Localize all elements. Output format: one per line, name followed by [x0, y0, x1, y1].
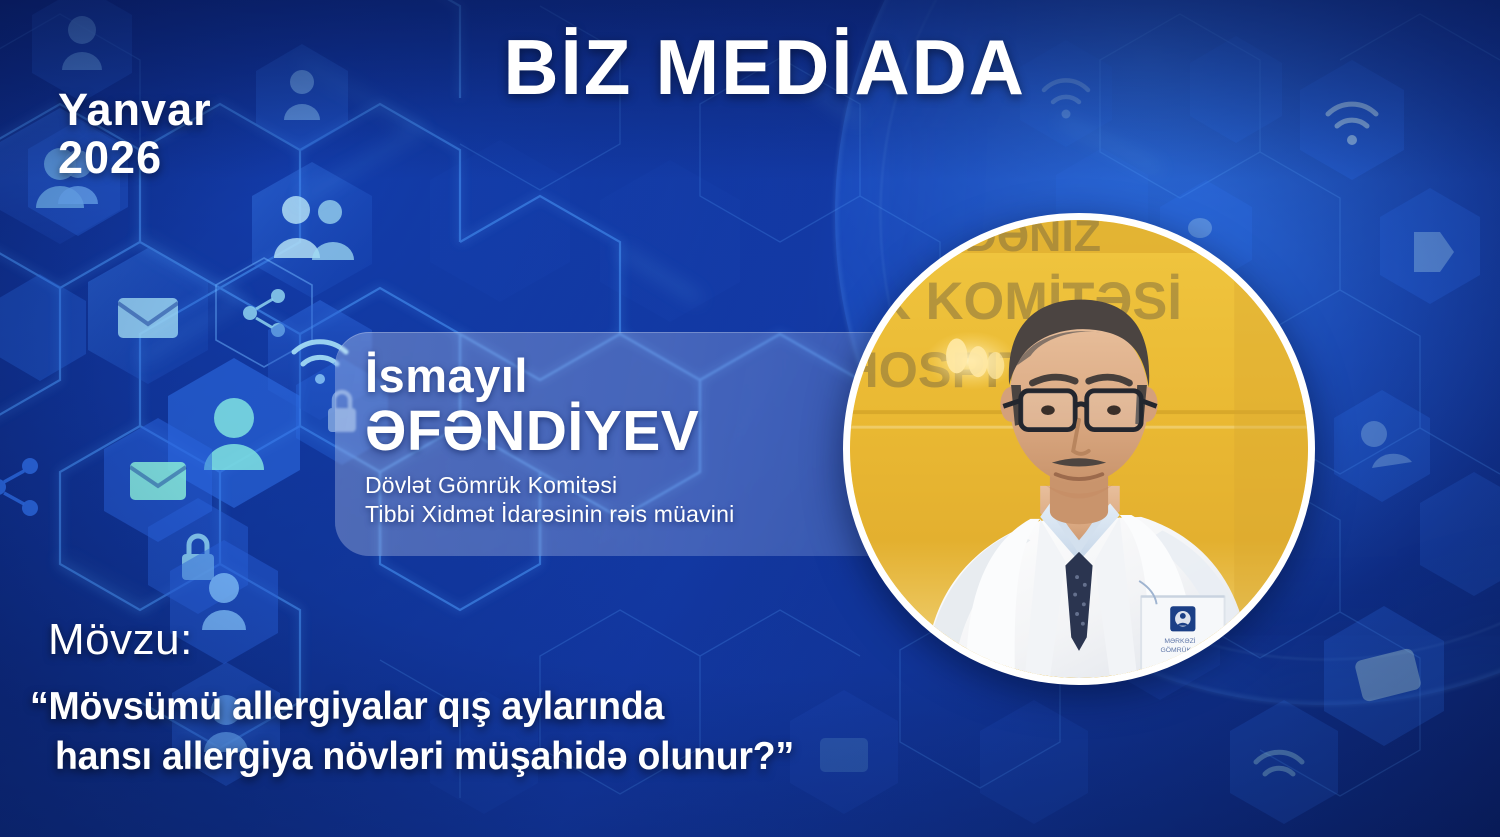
poster-canvas: BİZ MEDİADA Yanvar 2026 İsmayıl ƏFƏNDİYE… — [0, 0, 1500, 837]
speaker-organization: Dövlət Gömrük Komitəsi — [365, 471, 925, 500]
topic-label: Mövzu: — [48, 618, 193, 662]
speaker-last-name: ƏFƏNDİYEV — [365, 401, 925, 463]
svg-text:MƏRKƏZİ: MƏRKƏZİ — [1164, 636, 1195, 645]
date-block: Yanvar 2026 — [58, 86, 212, 181]
date-month: Yanvar — [58, 86, 212, 134]
speaker-photo: DƏNİZ K KOMİTƏSİ HOSPITAL — [850, 220, 1308, 678]
svg-text:GÖMRÜK HOSPİTALI: GÖMRÜK HOSPİTALI — [1161, 645, 1228, 654]
topic-question: “Mövsümü allergiyalar qış aylarında hans… — [30, 682, 930, 782]
date-year: 2026 — [58, 134, 212, 182]
speaker-position: Tibbi Xidmət İdarəsinin rəis müavini — [365, 500, 925, 529]
svg-text:DƏNİZ: DƏNİZ — [965, 220, 1102, 261]
program-title-text: BİZ MEDİADA — [504, 28, 1027, 106]
speaker-photo-frame: DƏNİZ K KOMİTƏSİ HOSPITAL — [843, 213, 1315, 685]
topic-question-line-2: hansı allergiya növləri müşahidə olunur?… — [30, 732, 894, 782]
program-title: BİZ MEDİADA — [0, 28, 1500, 106]
speaker-info: İsmayıl ƏFƏNDİYEV Dövlət Gömrük Komitəsi… — [365, 352, 925, 528]
topic-question-line-1: “Mövsümü allergiyalar qış aylarında — [30, 682, 894, 732]
speaker-first-name: İsmayıl — [365, 352, 925, 399]
